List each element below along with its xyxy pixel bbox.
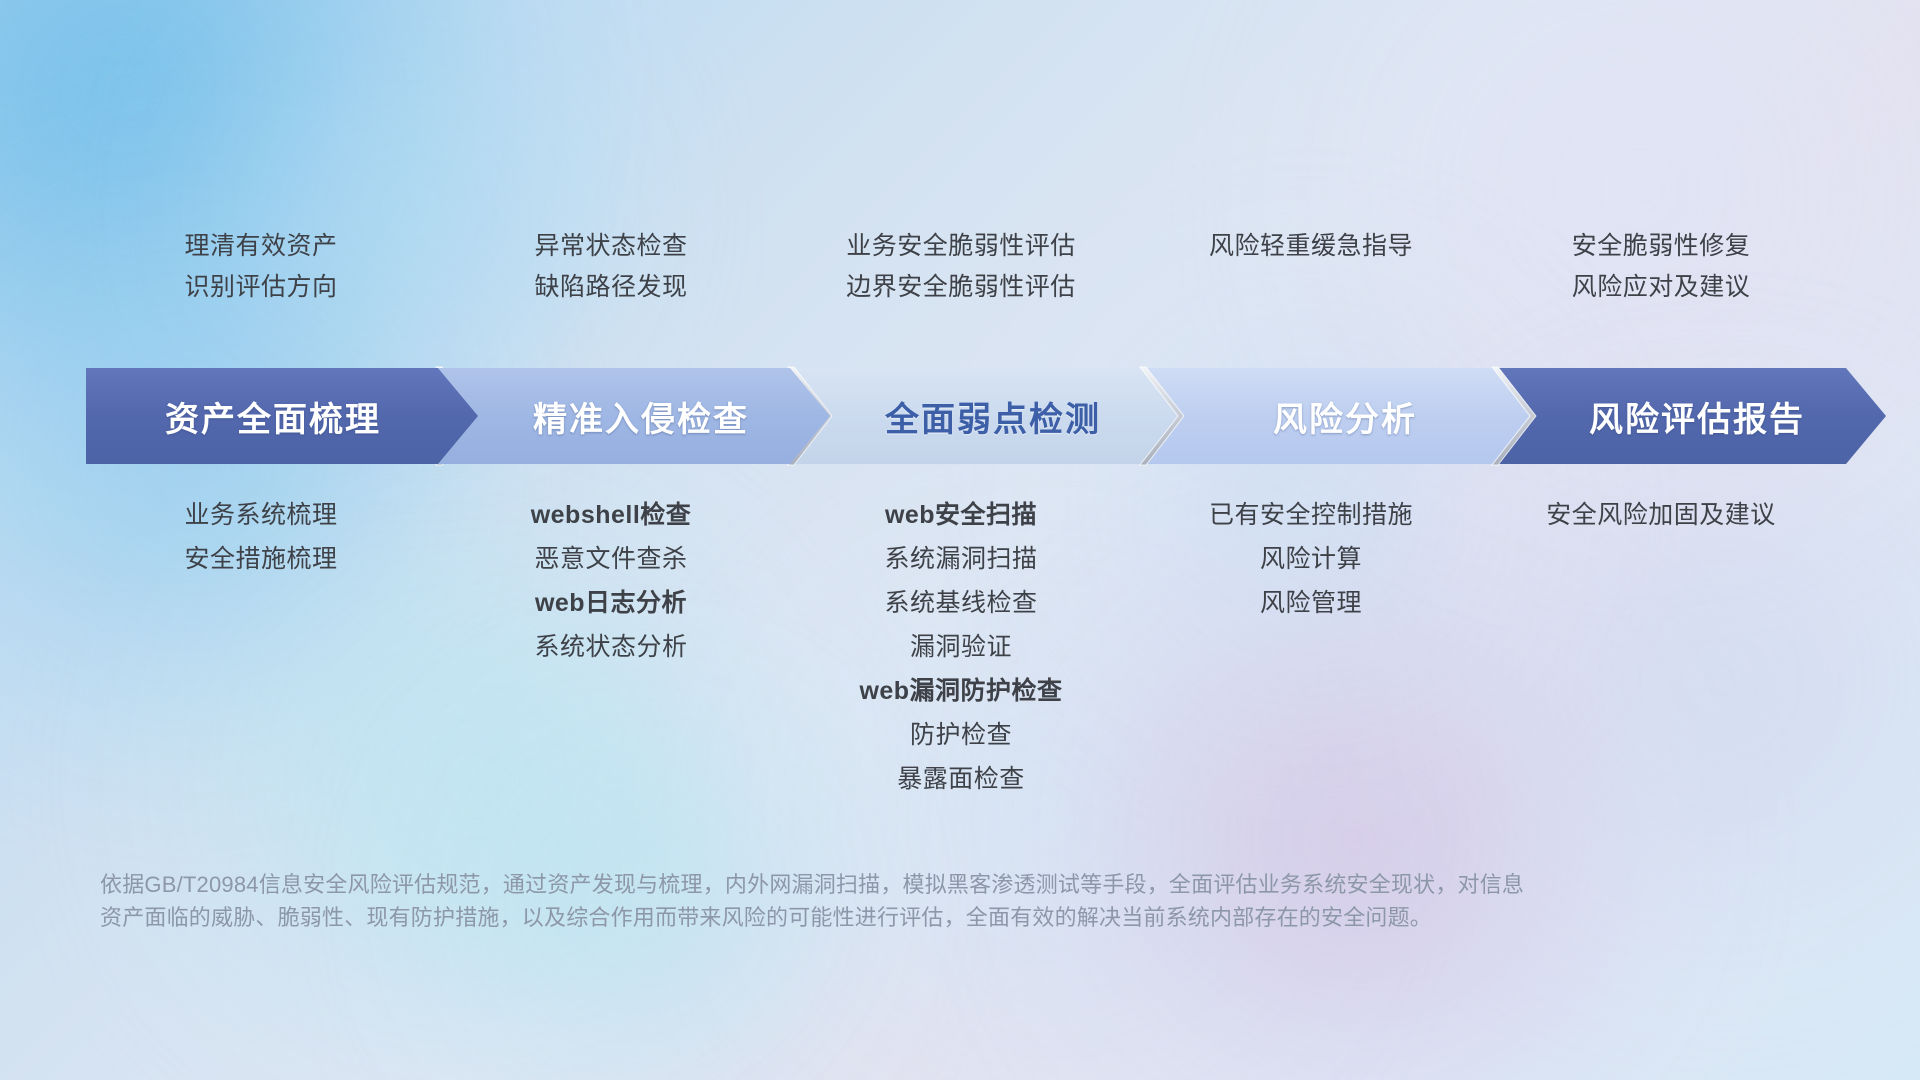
top-caption-line: 业务安全脆弱性评估 [846,232,1076,261]
top-caption-line: 识别评估方向 [184,273,337,302]
top-caption-column-2: 异常状态检查缺陷路径发现 [436,232,786,302]
top-caption-line: 异常状态检查 [534,232,687,261]
chevron-stage-label: 风险分析 [1273,392,1417,441]
bottom-list-item: 已有安全控制措施 [1209,500,1413,530]
top-caption-line: 安全脆弱性修复 [1572,232,1751,261]
chevron-stage-label: 风险评估报告 [1589,392,1805,441]
chevron-stage-band: 资产全面梳理精准入侵检查全面弱点检测风险分析风险评估报告 [86,368,1846,464]
bottom-list-item: 风险计算 [1260,544,1362,574]
bottom-list-item: 系统状态分析 [534,632,687,662]
bottom-list-column-3: web安全扫描系统漏洞扫描系统基线检查漏洞验证web漏洞防护检查防护检查暴露面检… [786,500,1136,794]
bottom-list-item: 系统漏洞扫描 [884,544,1037,574]
chevron-stage-1[interactable]: 资产全面梳理 [86,368,478,464]
bottom-list-item: 安全措施梳理 [184,544,337,574]
bottom-list-item: web安全扫描 [885,500,1037,530]
bottom-list-item: webshell检查 [531,500,692,530]
footer-line-2: 资产面临的威胁、脆弱性、现有防护措施，以及综合作用而带来风险的可能性进行评估，全… [100,901,1820,934]
chevron-stage-4[interactable]: 风险分析 [1142,368,1534,464]
bottom-list-item: web日志分析 [535,588,687,618]
bottom-list-item: 业务系统梳理 [184,500,337,530]
bottom-list-item: 风险管理 [1260,588,1362,618]
top-caption-column-3: 业务安全脆弱性评估边界安全脆弱性评估 [786,232,1136,302]
bottom-list-column-5: 安全风险加固及建议 [1486,500,1836,794]
bottom-list-item: 恶意文件查杀 [534,544,687,574]
bottom-list-column-2: webshell检查恶意文件查杀web日志分析系统状态分析 [436,500,786,794]
chevron-stage-label: 全面弱点检测 [885,392,1101,441]
top-caption-column-5: 安全脆弱性修复风险应对及建议 [1486,232,1836,302]
chevron-stage-label: 资产全面梳理 [165,392,381,441]
footer-line-1: 依据GB/T20984信息安全风险评估规范，通过资产发现与梳理，内外网漏洞扫描，… [100,868,1820,901]
bottom-list-item: 防护检查 [910,720,1012,750]
process-diagram: 理清有效资产识别评估方向异常状态检查缺陷路径发现业务安全脆弱性评估边界安全脆弱性… [0,0,1920,1080]
top-caption-line: 风险应对及建议 [1572,273,1751,302]
chevron-stage-5[interactable]: 风险评估报告 [1494,368,1886,464]
top-caption-line: 理清有效资产 [184,232,337,261]
bottom-list-item: 漏洞验证 [910,632,1012,662]
top-caption-line: 边界安全脆弱性评估 [846,273,1076,302]
bottom-list-item: 系统基线检查 [884,588,1037,618]
bottom-list-item: web漏洞防护检查 [859,676,1062,706]
top-caption-line: 风险轻重缓急指导 [1209,232,1413,261]
chevron-stage-2[interactable]: 精准入侵检查 [438,368,830,464]
chevron-stage-label: 精准入侵检查 [533,392,749,441]
bottom-list-column-4: 已有安全控制措施风险计算风险管理 [1136,500,1486,794]
chevron-stage-3[interactable]: 全面弱点检测 [790,368,1182,464]
footer-description: 依据GB/T20984信息安全风险评估规范，通过资产发现与梳理，内外网漏洞扫描，… [100,868,1820,935]
bottom-list-column-1: 业务系统梳理安全措施梳理 [86,500,436,794]
top-caption-column-1: 理清有效资产识别评估方向 [86,232,436,302]
top-caption-line: 缺陷路径发现 [534,273,687,302]
bottom-list-item: 安全风险加固及建议 [1546,500,1776,530]
top-captions-row: 理清有效资产识别评估方向异常状态检查缺陷路径发现业务安全脆弱性评估边界安全脆弱性… [86,232,1836,302]
bottom-details-row: 业务系统梳理安全措施梳理webshell检查恶意文件查杀web日志分析系统状态分… [86,500,1836,794]
top-caption-column-4: 风险轻重缓急指导 [1136,232,1486,302]
bottom-list-item: 暴露面检查 [897,764,1025,794]
